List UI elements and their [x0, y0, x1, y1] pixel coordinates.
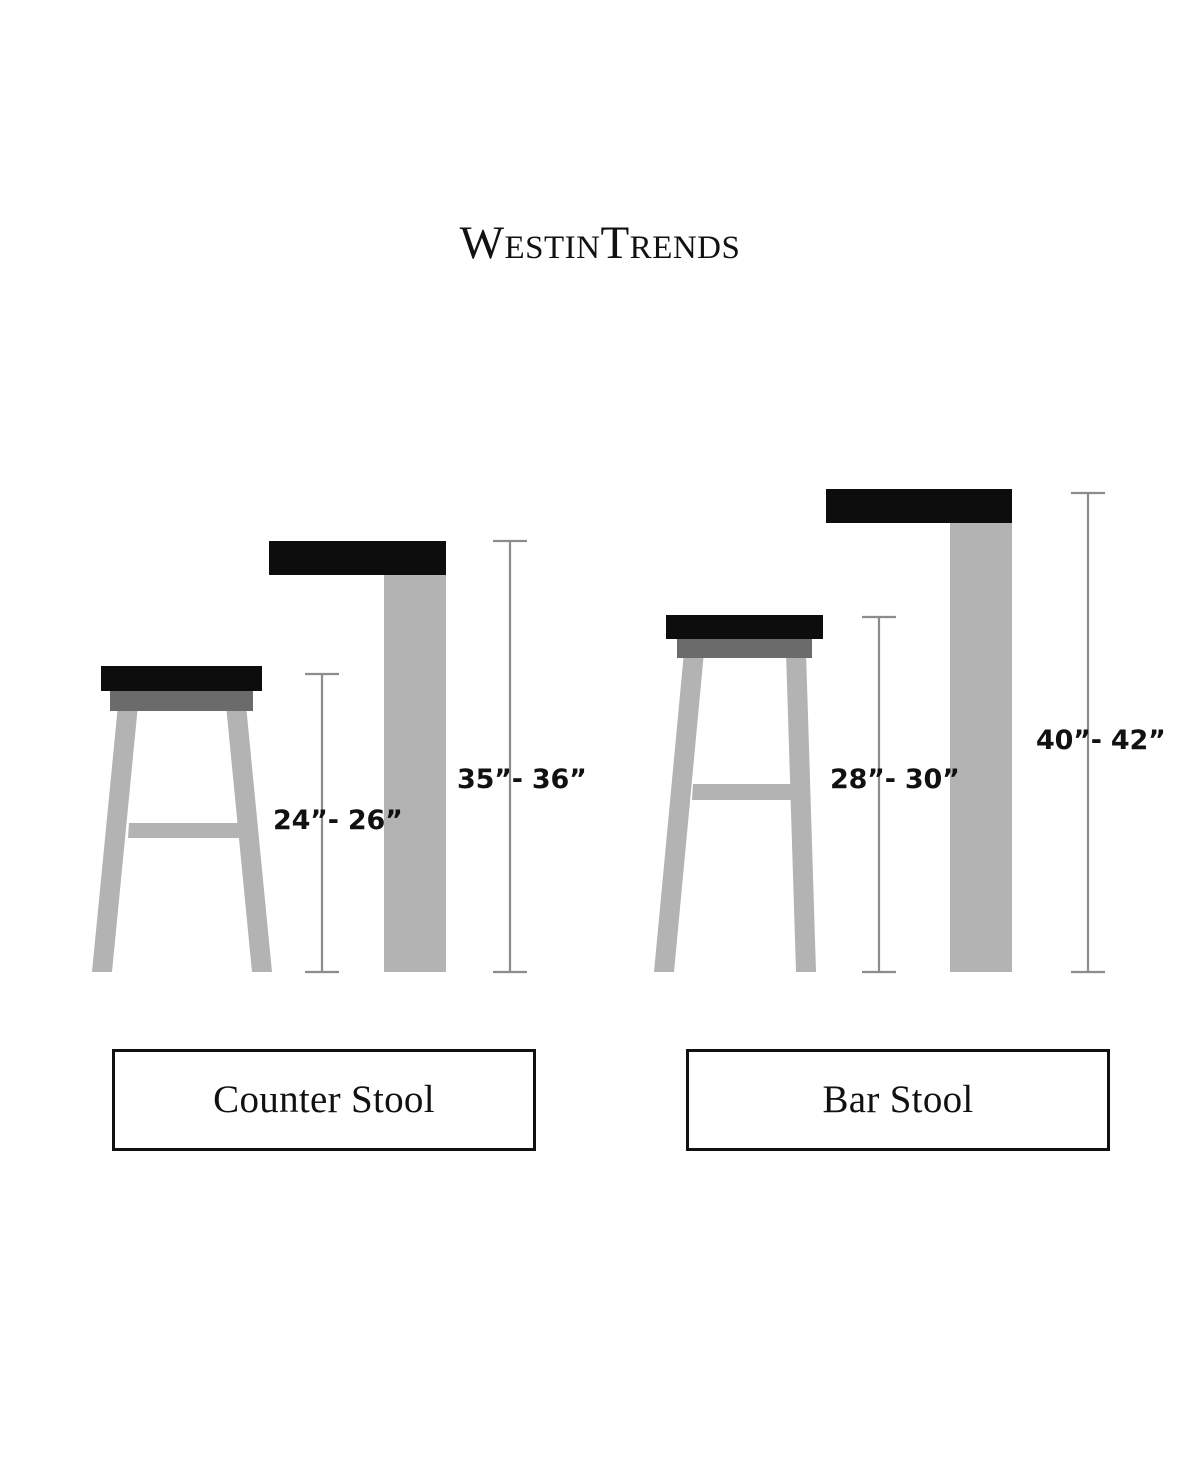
caption-box-counter-stool: Counter Stool	[112, 1049, 536, 1151]
bar-stool-apron	[677, 638, 812, 658]
counter-stool-seat	[101, 666, 262, 691]
caption-box-bar-stool: Bar Stool	[686, 1049, 1110, 1151]
bar-stool-stretcher	[692, 784, 801, 800]
bar-stool-leg-right	[786, 652, 816, 972]
bar-table-pedestal	[950, 522, 1012, 972]
caption-label-bar-stool: Bar Stool	[822, 1078, 973, 1122]
bar-stool-seat	[666, 615, 823, 639]
infographic-page: WestinTrends	[0, 0, 1200, 1467]
counter-table-top	[269, 541, 446, 575]
bar-table-top	[826, 489, 1012, 523]
bar-seat-height-label: 28”- 30”	[830, 765, 960, 795]
counter-stool-apron	[110, 690, 253, 711]
caption-label-counter-stool: Counter Stool	[213, 1078, 435, 1122]
counter-table-dimension-line	[493, 541, 527, 972]
counter-stool-figure	[92, 666, 272, 972]
stool-height-diagram	[0, 0, 1200, 1467]
counter-seat-height-label: 24”- 26”	[273, 806, 403, 836]
counter-table-figure	[269, 541, 446, 972]
bar-stool-leg-left	[654, 652, 704, 972]
bar-table-figure	[826, 489, 1012, 972]
counter-stool-leg-left	[92, 705, 138, 972]
counter-table-pedestal	[384, 575, 446, 972]
bar-table-height-label: 40”- 42”	[1036, 726, 1166, 756]
counter-stool-stretcher	[128, 823, 254, 838]
counter-stool-leg-right	[226, 705, 272, 972]
counter-table-height-label: 35”- 36”	[457, 765, 587, 795]
bar-stool-figure	[654, 615, 823, 972]
